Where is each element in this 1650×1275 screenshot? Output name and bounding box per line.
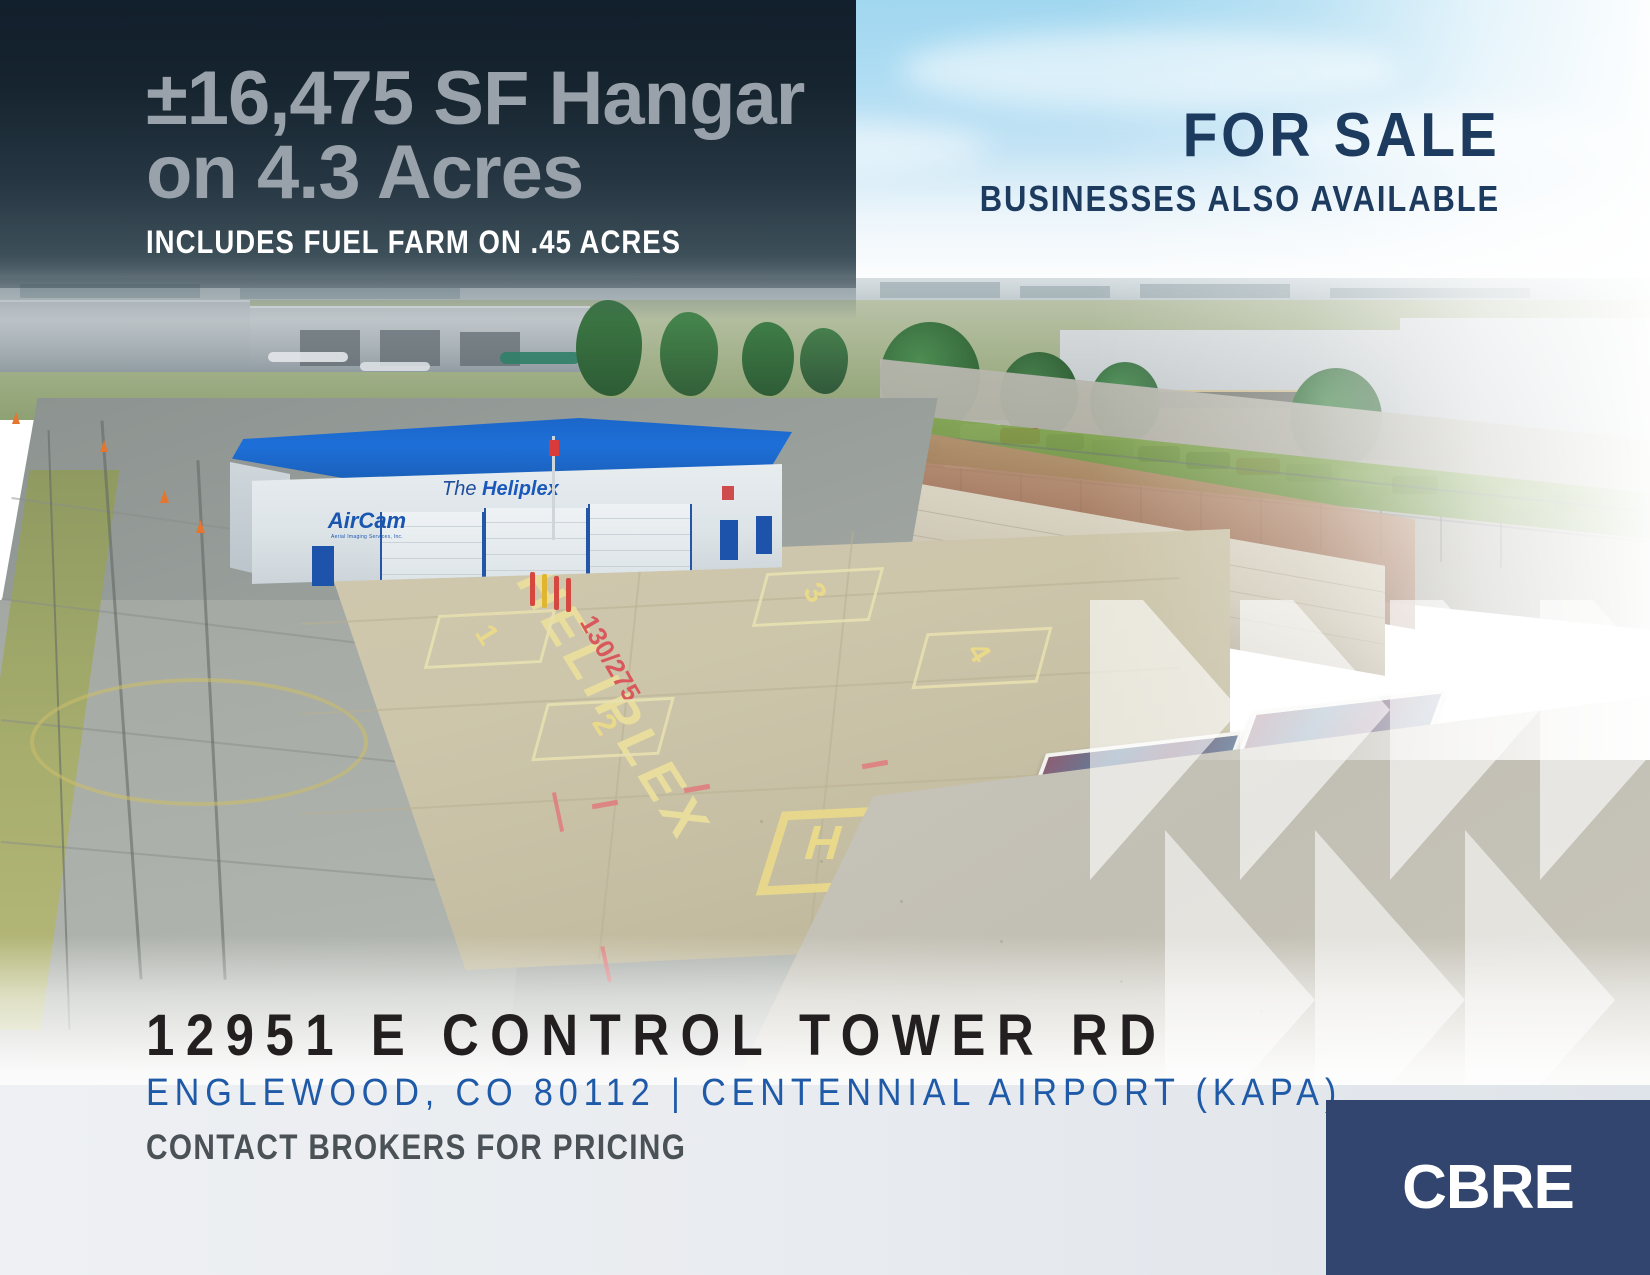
- hangar-entry-door: [756, 516, 772, 554]
- hangar-bay-door: [588, 504, 692, 576]
- property-flyer: HELIPLEX 130/275 1 2 3 4 H: [0, 0, 1650, 1275]
- tenant-logo: AirCam Aerial Imaging Services, Inc.: [322, 508, 412, 540]
- hangar-entry-door: [720, 520, 738, 560]
- building-sign-prefix: The: [442, 478, 482, 500]
- brand-logo-box: CBRE: [1326, 1100, 1650, 1275]
- hangar-bay-door: [484, 508, 588, 580]
- businesses-available-label: BUSINESSES ALSO AVAILABLE: [980, 178, 1500, 220]
- address-street: 12951 E CONTROL TOWER RD: [146, 1002, 1167, 1069]
- brand-logo-text: CBRE: [1326, 1100, 1650, 1275]
- wall-marker: [722, 486, 734, 500]
- address-city-airport: ENGLEWOOD, CO 80112 | CENTENNIAL AIRPORT…: [146, 1072, 1342, 1115]
- tenant-logo-sub: Aerial Imaging Services, Inc.: [322, 534, 412, 540]
- subheadline: INCLUDES FUEL FARM ON .45 ACRES: [146, 224, 681, 261]
- side-entry-door: [312, 546, 334, 586]
- page-title: ±16,475 SF Hangar on 4.3 Acres: [146, 62, 804, 210]
- pricing-note: CONTACT BROKERS FOR PRICING: [146, 1128, 686, 1168]
- building-sign: The Heliplex: [442, 478, 559, 501]
- hangar-building: The Heliplex AirCam: [222, 418, 822, 588]
- apron-circle-marking: [30, 678, 368, 806]
- tenant-logo-text: AirCam: [322, 508, 412, 534]
- for-sale-label: FOR SALE: [1182, 100, 1500, 171]
- building-sign-name: Heliplex: [482, 478, 559, 500]
